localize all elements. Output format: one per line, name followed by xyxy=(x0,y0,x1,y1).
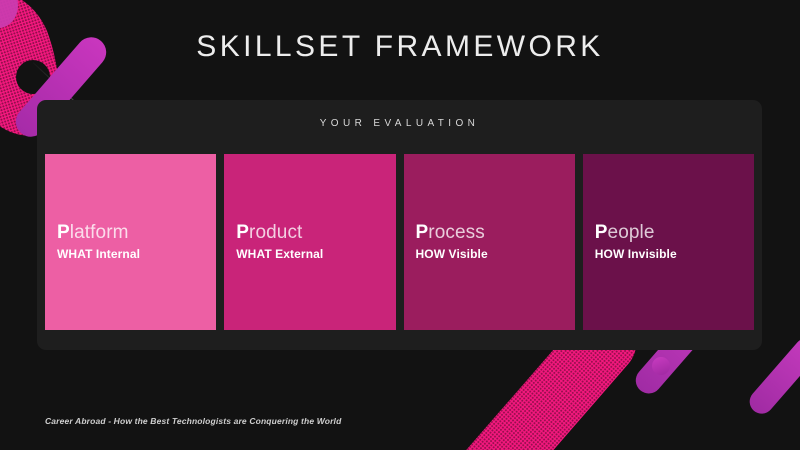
card-subtitle-people: HOW Invisible xyxy=(595,247,742,261)
card-subtitle-process: HOW Visible xyxy=(416,247,563,261)
card-title-process: Process xyxy=(416,223,563,244)
card-initial-product: P xyxy=(236,222,249,243)
purple-blob-top-left-icon xyxy=(0,0,18,28)
card-initial-process: P xyxy=(416,222,429,243)
card-title-people: People xyxy=(595,223,742,244)
card-process[interactable]: Process HOW Visible xyxy=(404,154,575,330)
evaluation-panel: YOUR EVALUATION Platform WHAT Internal P… xyxy=(37,100,762,350)
skillset-card-group: Platform WHAT Internal Product WHAT Exte… xyxy=(45,154,754,330)
purple-dot-bottom-right-icon xyxy=(652,357,670,375)
blob-notch-top-left-icon xyxy=(16,60,50,94)
card-platform[interactable]: Platform WHAT Internal xyxy=(45,154,216,330)
page-title: SKILLSET FRAMEWORK xyxy=(0,30,800,64)
card-initial-platform: P xyxy=(57,222,70,243)
card-rest-process: rocess xyxy=(428,222,485,243)
card-initial-people: P xyxy=(595,222,608,243)
slide-canvas: SKILLSET FRAMEWORK YOUR EVALUATION Platf… xyxy=(0,0,800,450)
card-rest-people: eople xyxy=(608,222,655,243)
card-title-platform: Platform xyxy=(57,223,204,244)
card-product[interactable]: Product WHAT External xyxy=(224,154,395,330)
card-subtitle-product: WHAT External xyxy=(236,247,383,261)
card-title-product: Product xyxy=(236,223,383,244)
card-subtitle-platform: WHAT Internal xyxy=(57,247,204,261)
footer-caption: Career Abroad - How the Best Technologis… xyxy=(45,416,341,426)
panel-subtitle: YOUR EVALUATION xyxy=(37,118,762,129)
card-rest-product: roduct xyxy=(249,222,302,243)
card-people[interactable]: People HOW Invisible xyxy=(583,154,754,330)
card-rest-platform: latform xyxy=(70,222,129,243)
